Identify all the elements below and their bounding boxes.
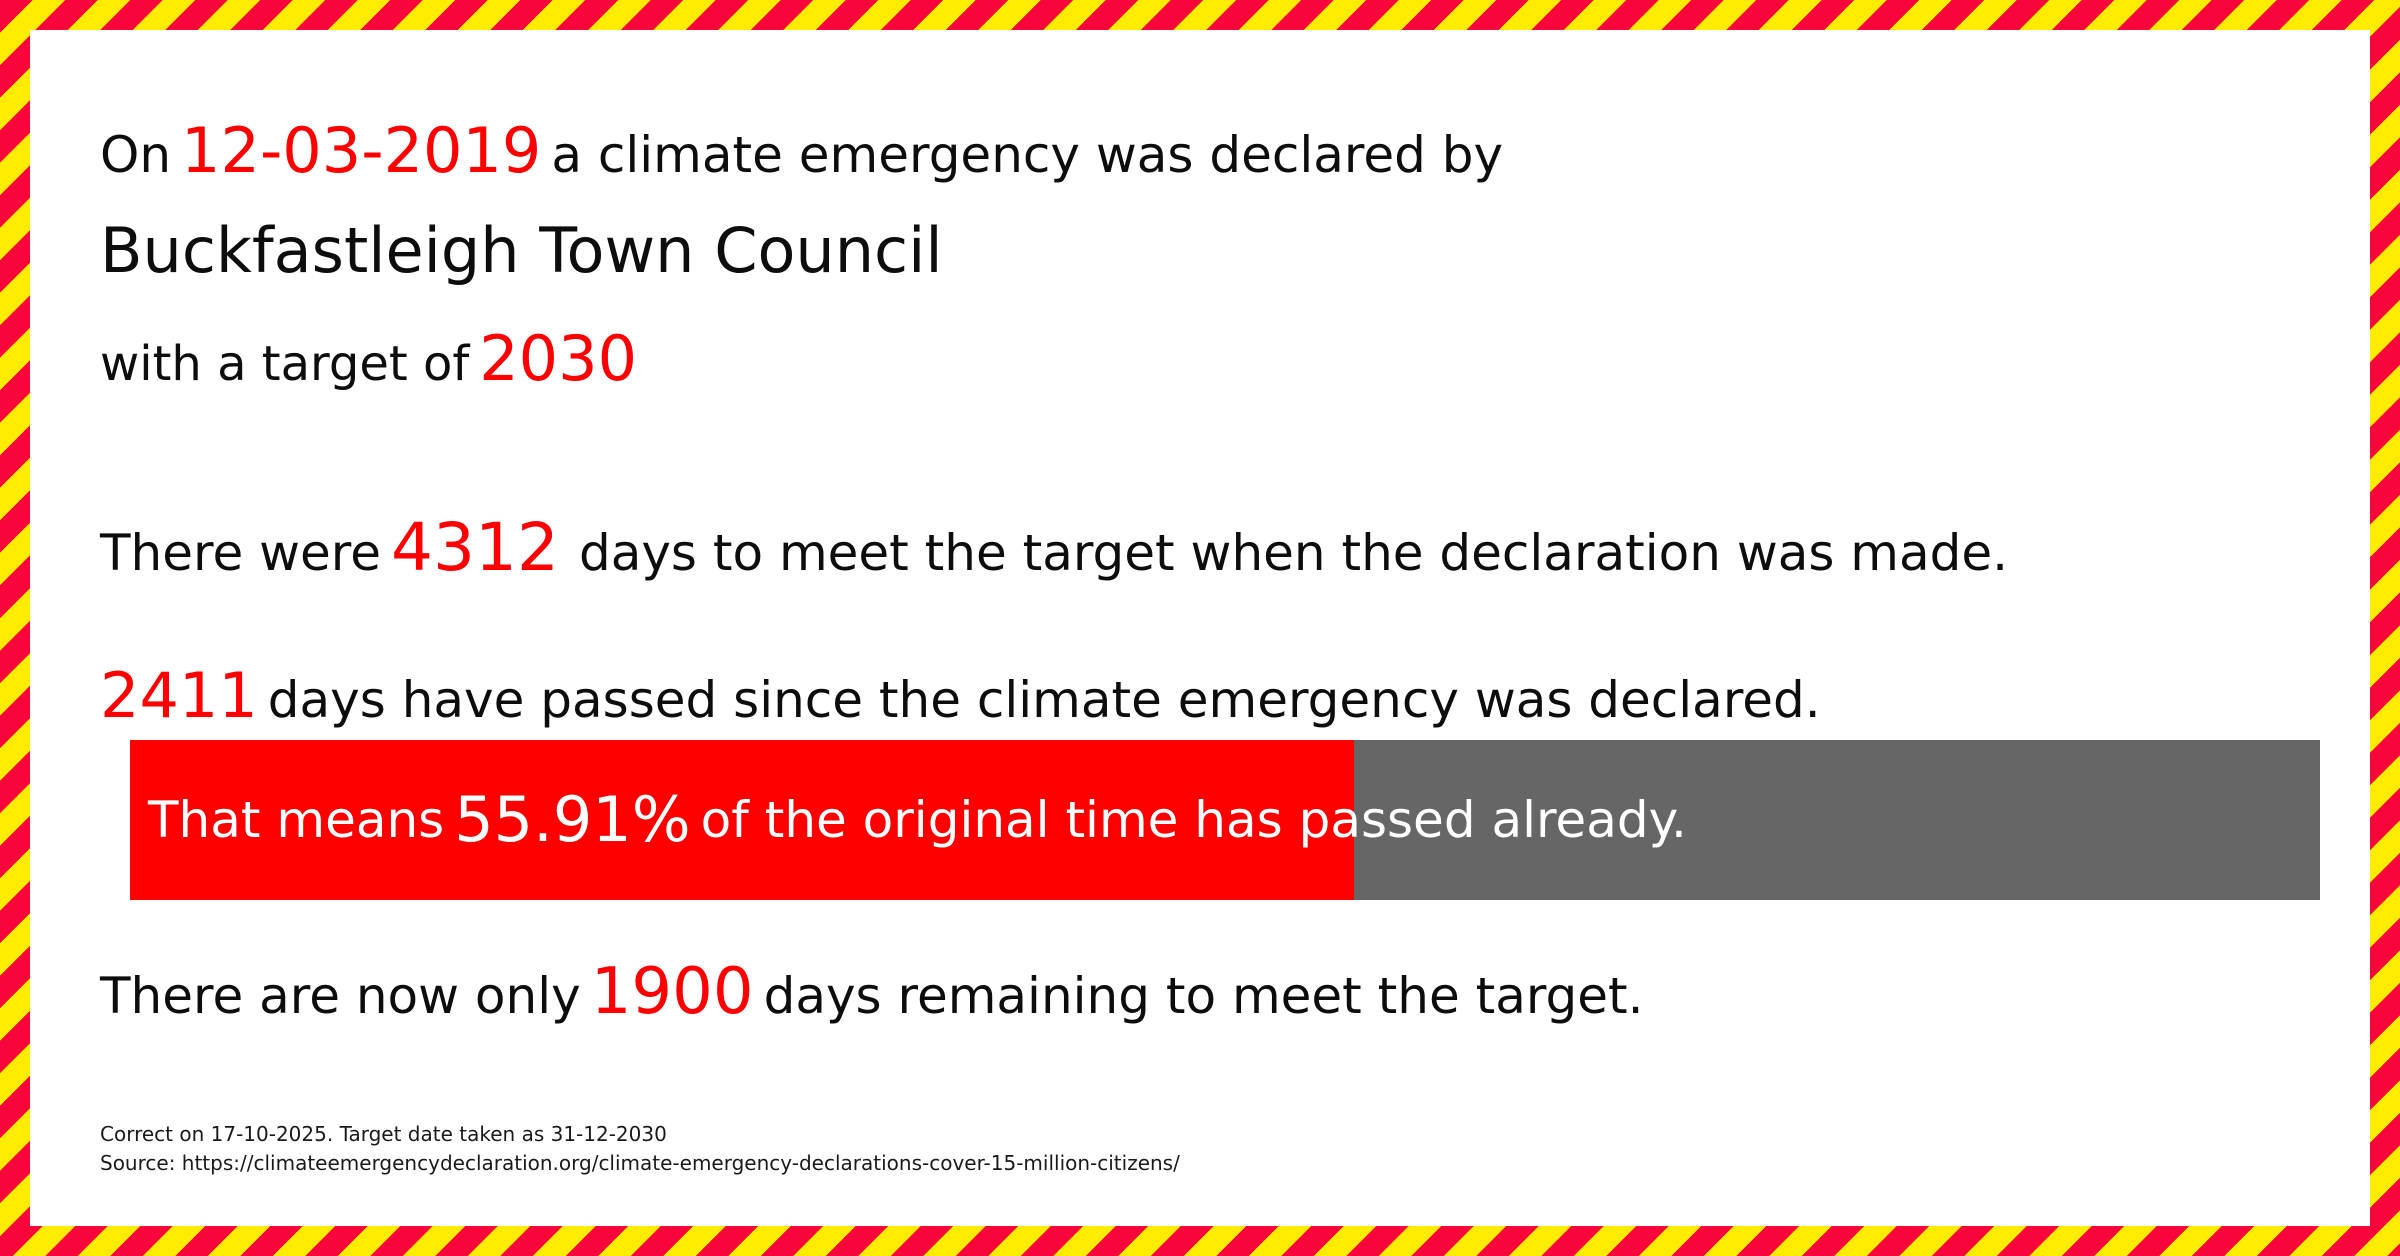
footer-correct-on-text: Correct on 17-10-2025. Target date taken… xyxy=(100,1120,1180,1149)
info-card: On12-03-2019a climate emergency was decl… xyxy=(30,30,2370,1226)
progress-percent-value: 55.91% xyxy=(454,789,690,851)
target-year-line: with a target of2030 xyxy=(100,328,637,390)
days-remaining-line: There are now only1900days remaining to … xyxy=(100,960,1644,1024)
declaration-date-value: 12-03-2019 xyxy=(181,114,541,187)
target-prefix-text: with a target of xyxy=(100,336,469,392)
progress-label-prefix-text: That means xyxy=(148,795,444,845)
remaining-prefix-text: There are now only xyxy=(100,967,581,1025)
days-passed-suffix-text: days have passed since the climate emerg… xyxy=(268,671,1821,729)
target-year-value: 2030 xyxy=(479,322,637,395)
progress-bar-label: That means55.91%of the original time has… xyxy=(148,740,1687,900)
days-remaining-value: 1900 xyxy=(591,955,754,1029)
progress-label-suffix-text: of the original time has passed already. xyxy=(701,795,1687,845)
total-days-suffix-text: days to meet the target when the declara… xyxy=(579,524,2008,582)
total-days-value: 4312 xyxy=(391,509,559,586)
days-passed-value: 2411 xyxy=(100,659,258,732)
declaration-suffix-text: a climate emergency was declared by xyxy=(551,126,1503,184)
time-elapsed-progress-bar: That means55.91%of the original time has… xyxy=(130,740,2320,900)
hazard-stripe-frame: On12-03-2019a climate emergency was decl… xyxy=(0,0,2400,1256)
declaring-authority-name: Buckfastleigh Town Council xyxy=(100,220,943,282)
total-days-line: There were4312days to meet the target wh… xyxy=(100,515,2008,581)
footer-notes: Correct on 17-10-2025. Target date taken… xyxy=(100,1120,1180,1178)
declaration-date-line: On12-03-2019a climate emergency was decl… xyxy=(100,120,1503,182)
footer-source-text: Source: https://climateemergencydeclarat… xyxy=(100,1149,1180,1178)
declaration-prefix-text: On xyxy=(100,126,171,184)
days-passed-line: 2411days have passed since the climate e… xyxy=(100,665,1821,727)
remaining-suffix-text: days remaining to meet the target. xyxy=(764,967,1644,1025)
total-days-prefix-text: There were xyxy=(100,524,381,582)
card-content: On12-03-2019a climate emergency was decl… xyxy=(100,60,2330,1226)
